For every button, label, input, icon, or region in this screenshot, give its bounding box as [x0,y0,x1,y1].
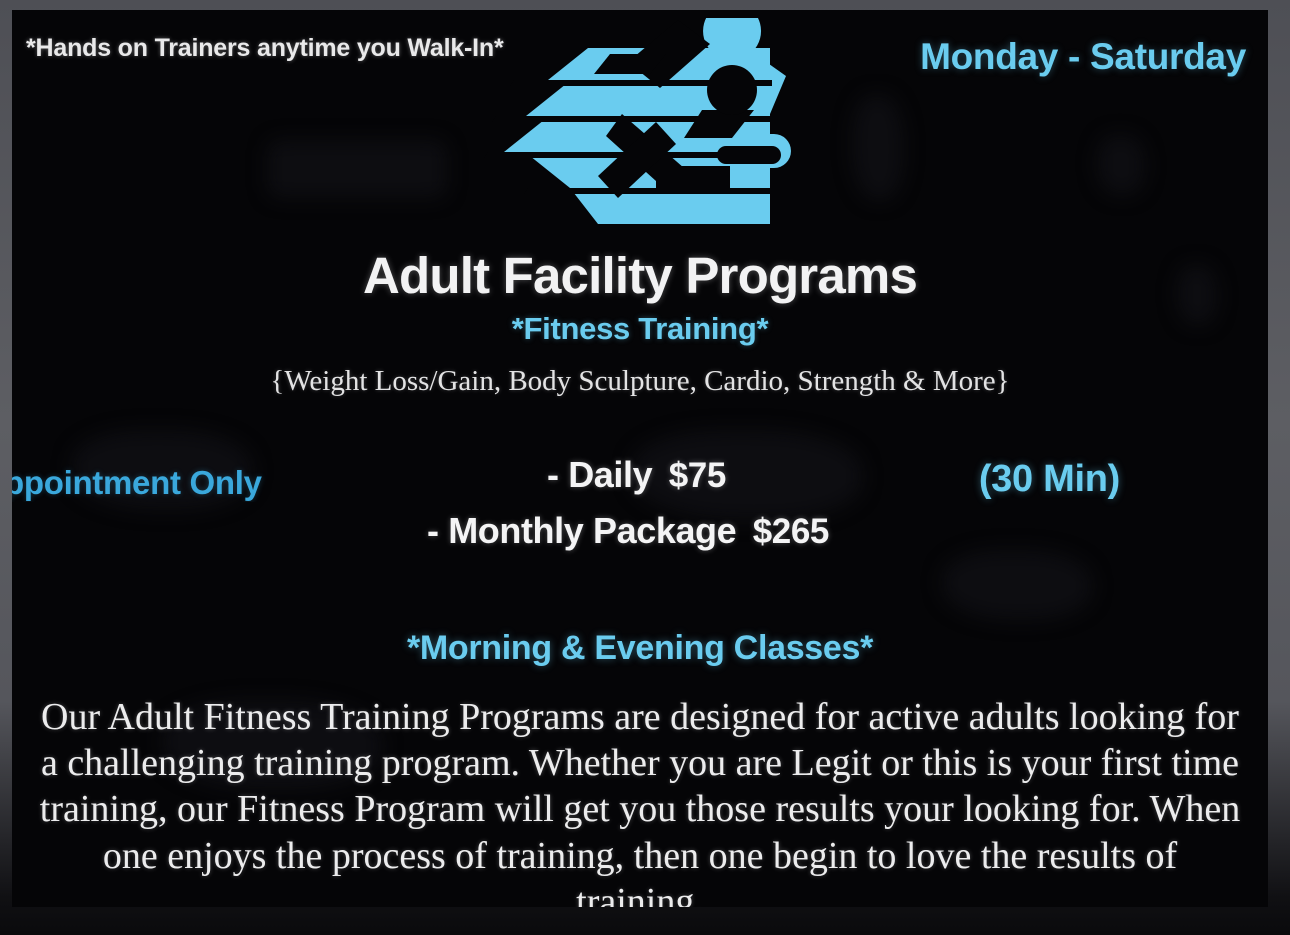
program-subtitle: *Fitness Training* [12,311,1268,347]
flyer-frame: *Hands on Trainers anytime you Walk-In* … [0,0,1290,935]
price-label: - Monthly Package [427,510,736,551]
header-row: *Hands on Trainers anytime you Walk-In* … [12,10,1268,245]
program-description: Our Adult Fitness Training Programs are … [36,694,1244,907]
price-row-monthly: - Monthly Package $265 [417,510,937,552]
walk-in-tagline: *Hands on Trainers anytime you Walk-In* [26,34,504,63]
pricing-row: ppointment Only - Daily $75 - Monthly Pa… [12,446,1268,611]
price-row-daily: - Daily $75 [417,454,937,496]
price-label: - Daily [547,454,652,495]
price-amount: $265 [753,512,829,551]
flyer-panel: *Hands on Trainers anytime you Walk-In* … [12,10,1268,907]
page-title: Adult Facility Programs [12,249,1268,303]
running-man-logo [470,18,810,233]
price-amount: $75 [669,456,726,495]
program-scope: {Weight Loss/Gain, Body Sculpture, Cardi… [12,365,1268,398]
title-block: Adult Facility Programs *Fitness Trainin… [12,249,1268,398]
classes-note: *Morning & Evening Classes* [12,629,1268,668]
session-duration-note: (30 Min) [979,458,1120,501]
appointment-only-note: ppointment Only [12,464,404,502]
price-list: - Daily $75 - Monthly Package $265 [417,454,937,552]
schedule-days: Monday - Saturday [920,36,1246,78]
